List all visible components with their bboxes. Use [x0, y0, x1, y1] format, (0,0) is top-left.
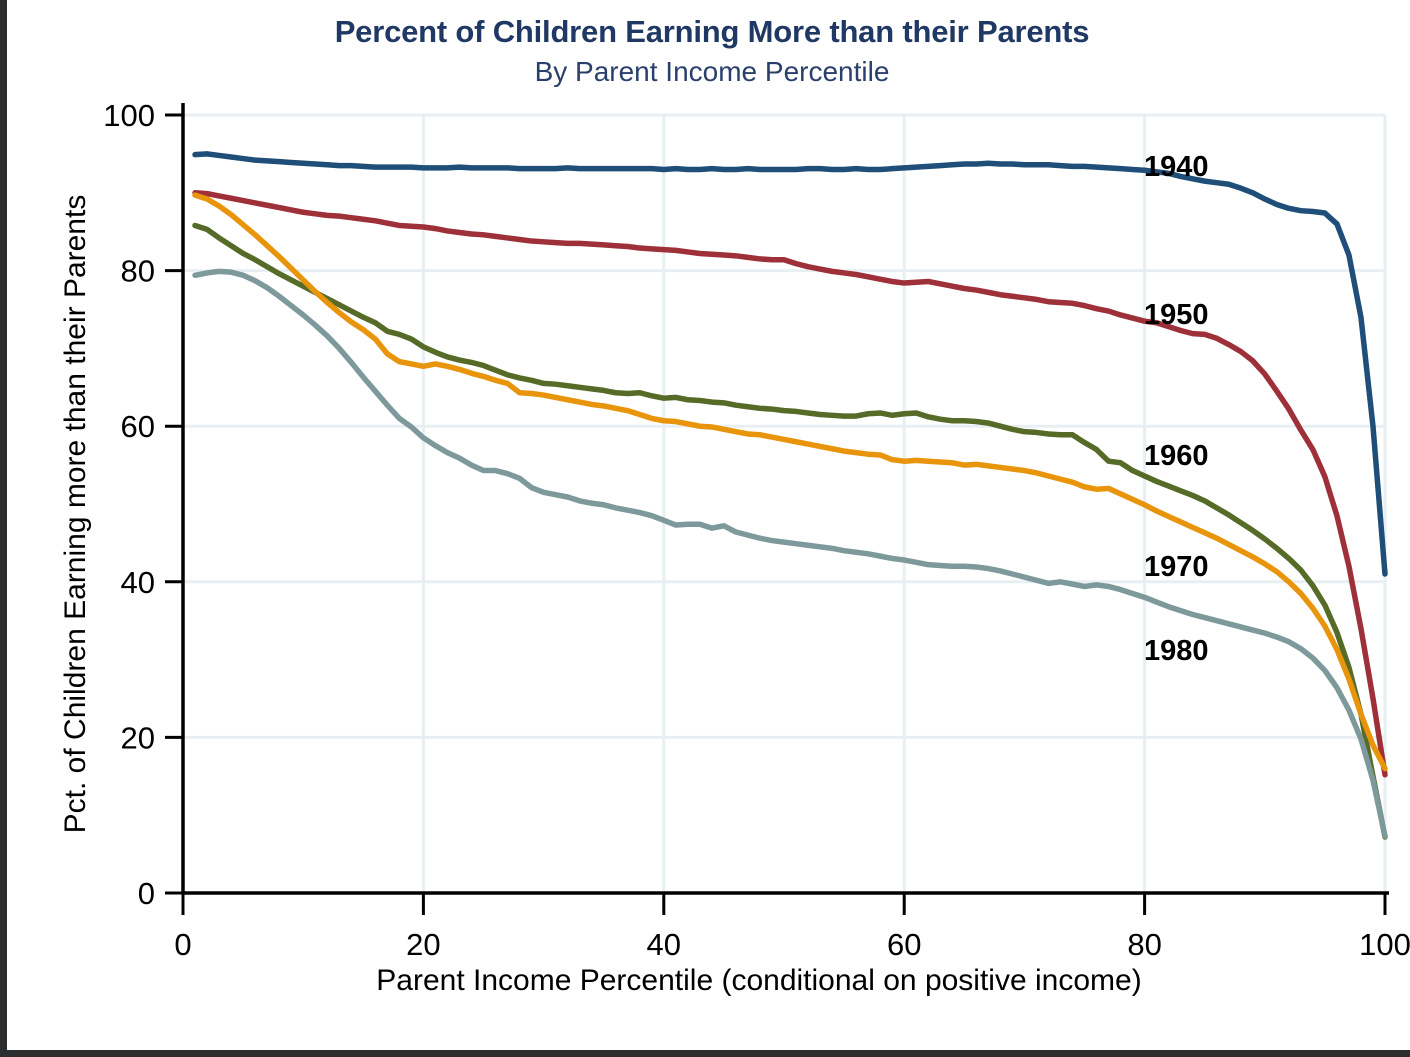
- y-tick-label: 20: [121, 720, 155, 755]
- series-label-1980: 1980: [1144, 635, 1209, 667]
- series-label-1950: 1950: [1144, 299, 1209, 331]
- data-lines-group: [195, 154, 1385, 837]
- series-labels-group: 19401950196019701980: [1144, 151, 1209, 667]
- line-chart-plot: 020406080100020406080100 194019501960197…: [7, 0, 1410, 1057]
- data-line-1970: [195, 195, 1385, 768]
- y-tick-label: 40: [121, 565, 155, 600]
- y-axis-title: Pct. of Children Earning more than their…: [59, 195, 92, 834]
- x-tick-label: 60: [887, 927, 921, 962]
- series-label-1940: 1940: [1144, 151, 1209, 183]
- tick-labels-group: 020406080100020406080100: [103, 98, 1410, 962]
- series-label-1970: 1970: [1144, 551, 1209, 583]
- y-tick-label: 60: [121, 409, 155, 444]
- tick-marks-group: [165, 115, 1385, 915]
- x-tick-label: 0: [174, 927, 191, 962]
- x-tick-label: 40: [647, 927, 681, 962]
- data-line-1940: [195, 154, 1385, 574]
- x-axis-title: Parent Income Percentile (conditional on…: [376, 964, 1141, 997]
- series-label-1960: 1960: [1144, 440, 1209, 472]
- y-tick-label: 100: [103, 98, 155, 133]
- y-tick-label: 0: [138, 876, 155, 911]
- data-line-1950: [195, 193, 1385, 775]
- x-tick-label: 80: [1127, 927, 1161, 962]
- axis-titles-group: Parent Income Percentile (conditional on…: [59, 195, 1142, 997]
- x-tick-label: 20: [406, 927, 440, 962]
- figure-canvas: Percent of Children Earning More than th…: [0, 0, 1410, 1057]
- y-tick-label: 80: [121, 254, 155, 289]
- x-tick-label: 100: [1359, 927, 1410, 962]
